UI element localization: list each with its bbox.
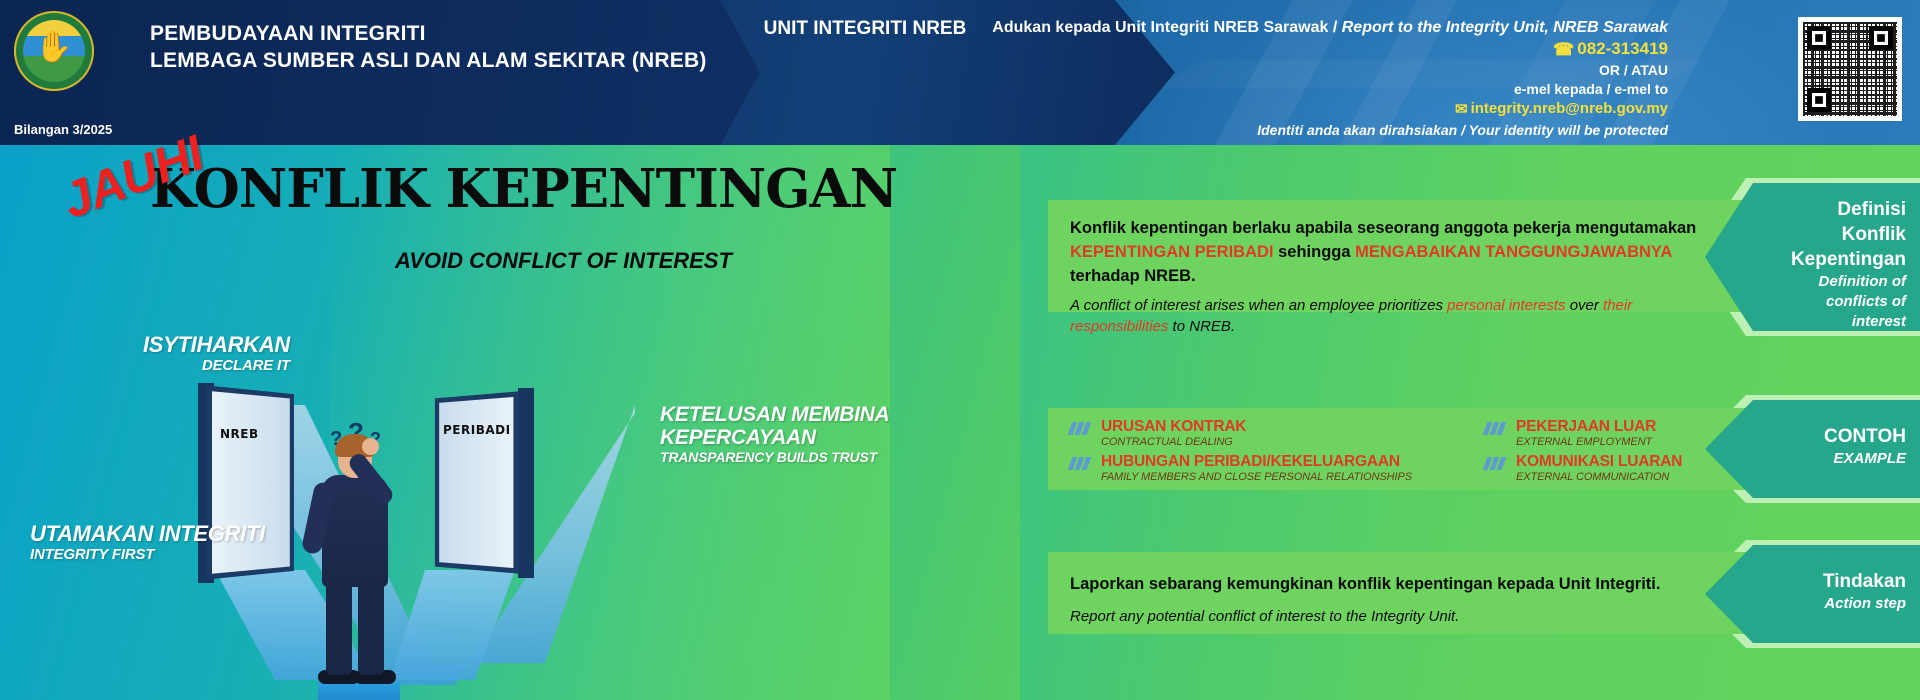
side-label-action-en: Action step bbox=[1823, 594, 1906, 614]
example-item-bm: PEKERJAAN LUAR bbox=[1516, 418, 1656, 435]
phone-icon: ☎ bbox=[1553, 39, 1574, 61]
caption-declare-bm: ISYTIHARKAN bbox=[110, 333, 290, 357]
panel-examples: URUSAN KONTRAK CONTRACTUAL DEALING PEKER… bbox=[1048, 408, 1748, 490]
definition-en-pre: A conflict of interest arises when an em… bbox=[1070, 297, 1447, 314]
definition-bm-highlight-1: KEPENTINGAN PERIBADI bbox=[1070, 243, 1274, 261]
stripes-icon bbox=[1485, 457, 1509, 470]
example-item-en: CONTRACTUAL DEALING bbox=[1101, 435, 1246, 450]
caption-integrity-first-bm: UTAMAKAN INTEGRITI bbox=[30, 522, 310, 546]
caption-integrity-first-en: INTEGRITY FIRST bbox=[30, 546, 310, 563]
definition-bm-post: terhadap NREB. bbox=[1070, 267, 1196, 285]
caption-integrity-first: UTAMAKAN INTEGRITI INTEGRITY FIRST bbox=[30, 522, 310, 563]
contact-email[interactable]: ✉integrity.nreb@nreb.gov.my bbox=[968, 99, 1668, 120]
report-bm: Adukan kepada Unit Integriti NREB Sarawa… bbox=[992, 19, 1328, 36]
stripes-icon bbox=[1070, 422, 1094, 435]
action-bm: Laporkan sebarang kemungkinan konflik ke… bbox=[1070, 572, 1732, 596]
example-item: PEKERJAAN LUAR EXTERNAL EMPLOYMENT bbox=[1485, 418, 1730, 453]
panel-definition: Konflik kepentingan berlaku apabila sese… bbox=[1048, 200, 1748, 312]
definition-bm-pre: Konflik kepentingan berlaku apabila sese… bbox=[1070, 219, 1696, 237]
caption-transparency: KETELUSAN MEMBINA KEPERCAYAAN TRANSPAREN… bbox=[660, 403, 920, 466]
side-label-definition-en-line1: Definition of bbox=[1791, 272, 1906, 292]
side-label-definition-bm-line3: Kepentingan bbox=[1791, 247, 1906, 272]
action-en: Report any potential conflict of interes… bbox=[1070, 606, 1732, 627]
side-label-action-bm: Tindakan bbox=[1823, 569, 1906, 594]
infographic-page: ✋ PEMBUDAYAAN INTEGRITI LEMBAGA SUMBER A… bbox=[0, 0, 1920, 700]
example-item-bm: URUSAN KONTRAK bbox=[1101, 418, 1246, 435]
caption-transparency-bm-line2: KEPERCAYAAN bbox=[660, 426, 920, 449]
door-left-label: NREB bbox=[220, 427, 259, 441]
report-separator: / bbox=[1333, 19, 1337, 36]
qr-code-icon[interactable] bbox=[1798, 17, 1902, 121]
contact-block: Adukan kepada Unit Integriti NREB Sarawa… bbox=[968, 17, 1668, 140]
page-header: ✋ PEMBUDAYAAN INTEGRITI LEMBAGA SUMBER A… bbox=[0, 0, 1920, 145]
organisation-title-line1: PEMBUDAYAAN INTEGRITI bbox=[150, 20, 707, 47]
side-label-example-en: EXAMPLE bbox=[1824, 449, 1906, 469]
example-item: KOMUNIKASI LUARAN EXTERNAL COMMUNICATION bbox=[1485, 453, 1730, 488]
example-item-bm: KOMUNIKASI LUARAN bbox=[1516, 453, 1682, 470]
door-right-label: PERIBADI bbox=[443, 423, 511, 437]
door-frame-right bbox=[518, 388, 534, 578]
example-item-en: FAMILY MEMBERS AND CLOSE PERSONAL RELATI… bbox=[1101, 470, 1412, 485]
organisation-title: PEMBUDAYAAN INTEGRITI LEMBAGA SUMBER ASL… bbox=[150, 20, 707, 74]
envelope-icon: ✉ bbox=[1455, 100, 1468, 120]
contact-phone[interactable]: ☎082-313419 bbox=[968, 38, 1668, 61]
side-label-definition-en-line2: conflicts of bbox=[1791, 292, 1906, 312]
report-line: Adukan kepada Unit Integriti NREB Sarawa… bbox=[968, 17, 1668, 38]
caption-transparency-en: TRANSPARENCY BUILDS TRUST bbox=[660, 449, 920, 466]
example-item: URUSAN KONTRAK CONTRACTUAL DEALING bbox=[1070, 418, 1485, 453]
contact-or: OR / ATAU bbox=[968, 61, 1668, 80]
example-item: HUBUNGAN PERIBADI/KEKELUARGAAN FAMILY ME… bbox=[1070, 453, 1485, 488]
privacy-note: Identiti anda akan dirahsiakan / Your id… bbox=[968, 120, 1668, 140]
person-illustration bbox=[300, 430, 430, 700]
issue-number: Bilangan 3/2025 bbox=[14, 122, 112, 137]
page-title: KONFLIK KEPENTINGAN bbox=[150, 160, 897, 218]
side-label-example-bm: CONTOH bbox=[1824, 424, 1906, 449]
door-peribadi bbox=[435, 391, 519, 573]
panel-action: Laporkan sebarang kemungkinan konflik ke… bbox=[1048, 552, 1748, 634]
organisation-title-line2: LEMBAGA SUMBER ASLI DAN ALAM SEKITAR (NR… bbox=[150, 47, 707, 74]
report-en: Report to the Integrity Unit, NREB Saraw… bbox=[1342, 19, 1668, 36]
caption-declare-en: DECLARE IT bbox=[110, 357, 290, 374]
definition-en: A conflict of interest arises when an em… bbox=[1070, 295, 1732, 337]
definition-bm-mid: sehingga bbox=[1274, 243, 1356, 261]
definition-bm: Konflik kepentingan berlaku apabila sese… bbox=[1070, 216, 1732, 288]
side-label-definition-bm-line2: Konflik bbox=[1791, 222, 1906, 247]
side-label-definition-en-line3: interest bbox=[1791, 312, 1906, 332]
side-label-definition-bm-line1: Definisi bbox=[1791, 197, 1906, 222]
caption-declare: ISYTIHARKAN DECLARE IT bbox=[110, 333, 290, 374]
definition-en-highlight-1: personal interests bbox=[1447, 297, 1565, 314]
stripes-icon bbox=[1485, 422, 1509, 435]
example-item-bm: HUBUNGAN PERIBADI/KEKELUARGAAN bbox=[1101, 453, 1412, 470]
email-address: integrity.nreb@nreb.gov.my bbox=[1471, 100, 1668, 117]
contact-email-label: e-mel kepada / e-mel to bbox=[968, 80, 1668, 99]
definition-en-mid: over bbox=[1566, 297, 1604, 314]
phone-number: 082-313419 bbox=[1577, 39, 1668, 58]
page-subtitle: AVOID CONFLICT OF INTEREST bbox=[395, 248, 732, 274]
definition-en-post: to NREB. bbox=[1168, 318, 1235, 335]
example-item-en: EXTERNAL EMPLOYMENT bbox=[1516, 435, 1656, 450]
nreb-crest-logo-icon: ✋ bbox=[14, 11, 94, 91]
definition-bm-highlight-2: MENGABAIKAN TANGGUNGJAWABNYA bbox=[1355, 243, 1672, 261]
stripes-icon bbox=[1070, 457, 1094, 470]
example-item-en: EXTERNAL COMMUNICATION bbox=[1516, 470, 1682, 485]
caption-transparency-bm-line1: KETELUSAN MEMBINA bbox=[660, 403, 920, 426]
